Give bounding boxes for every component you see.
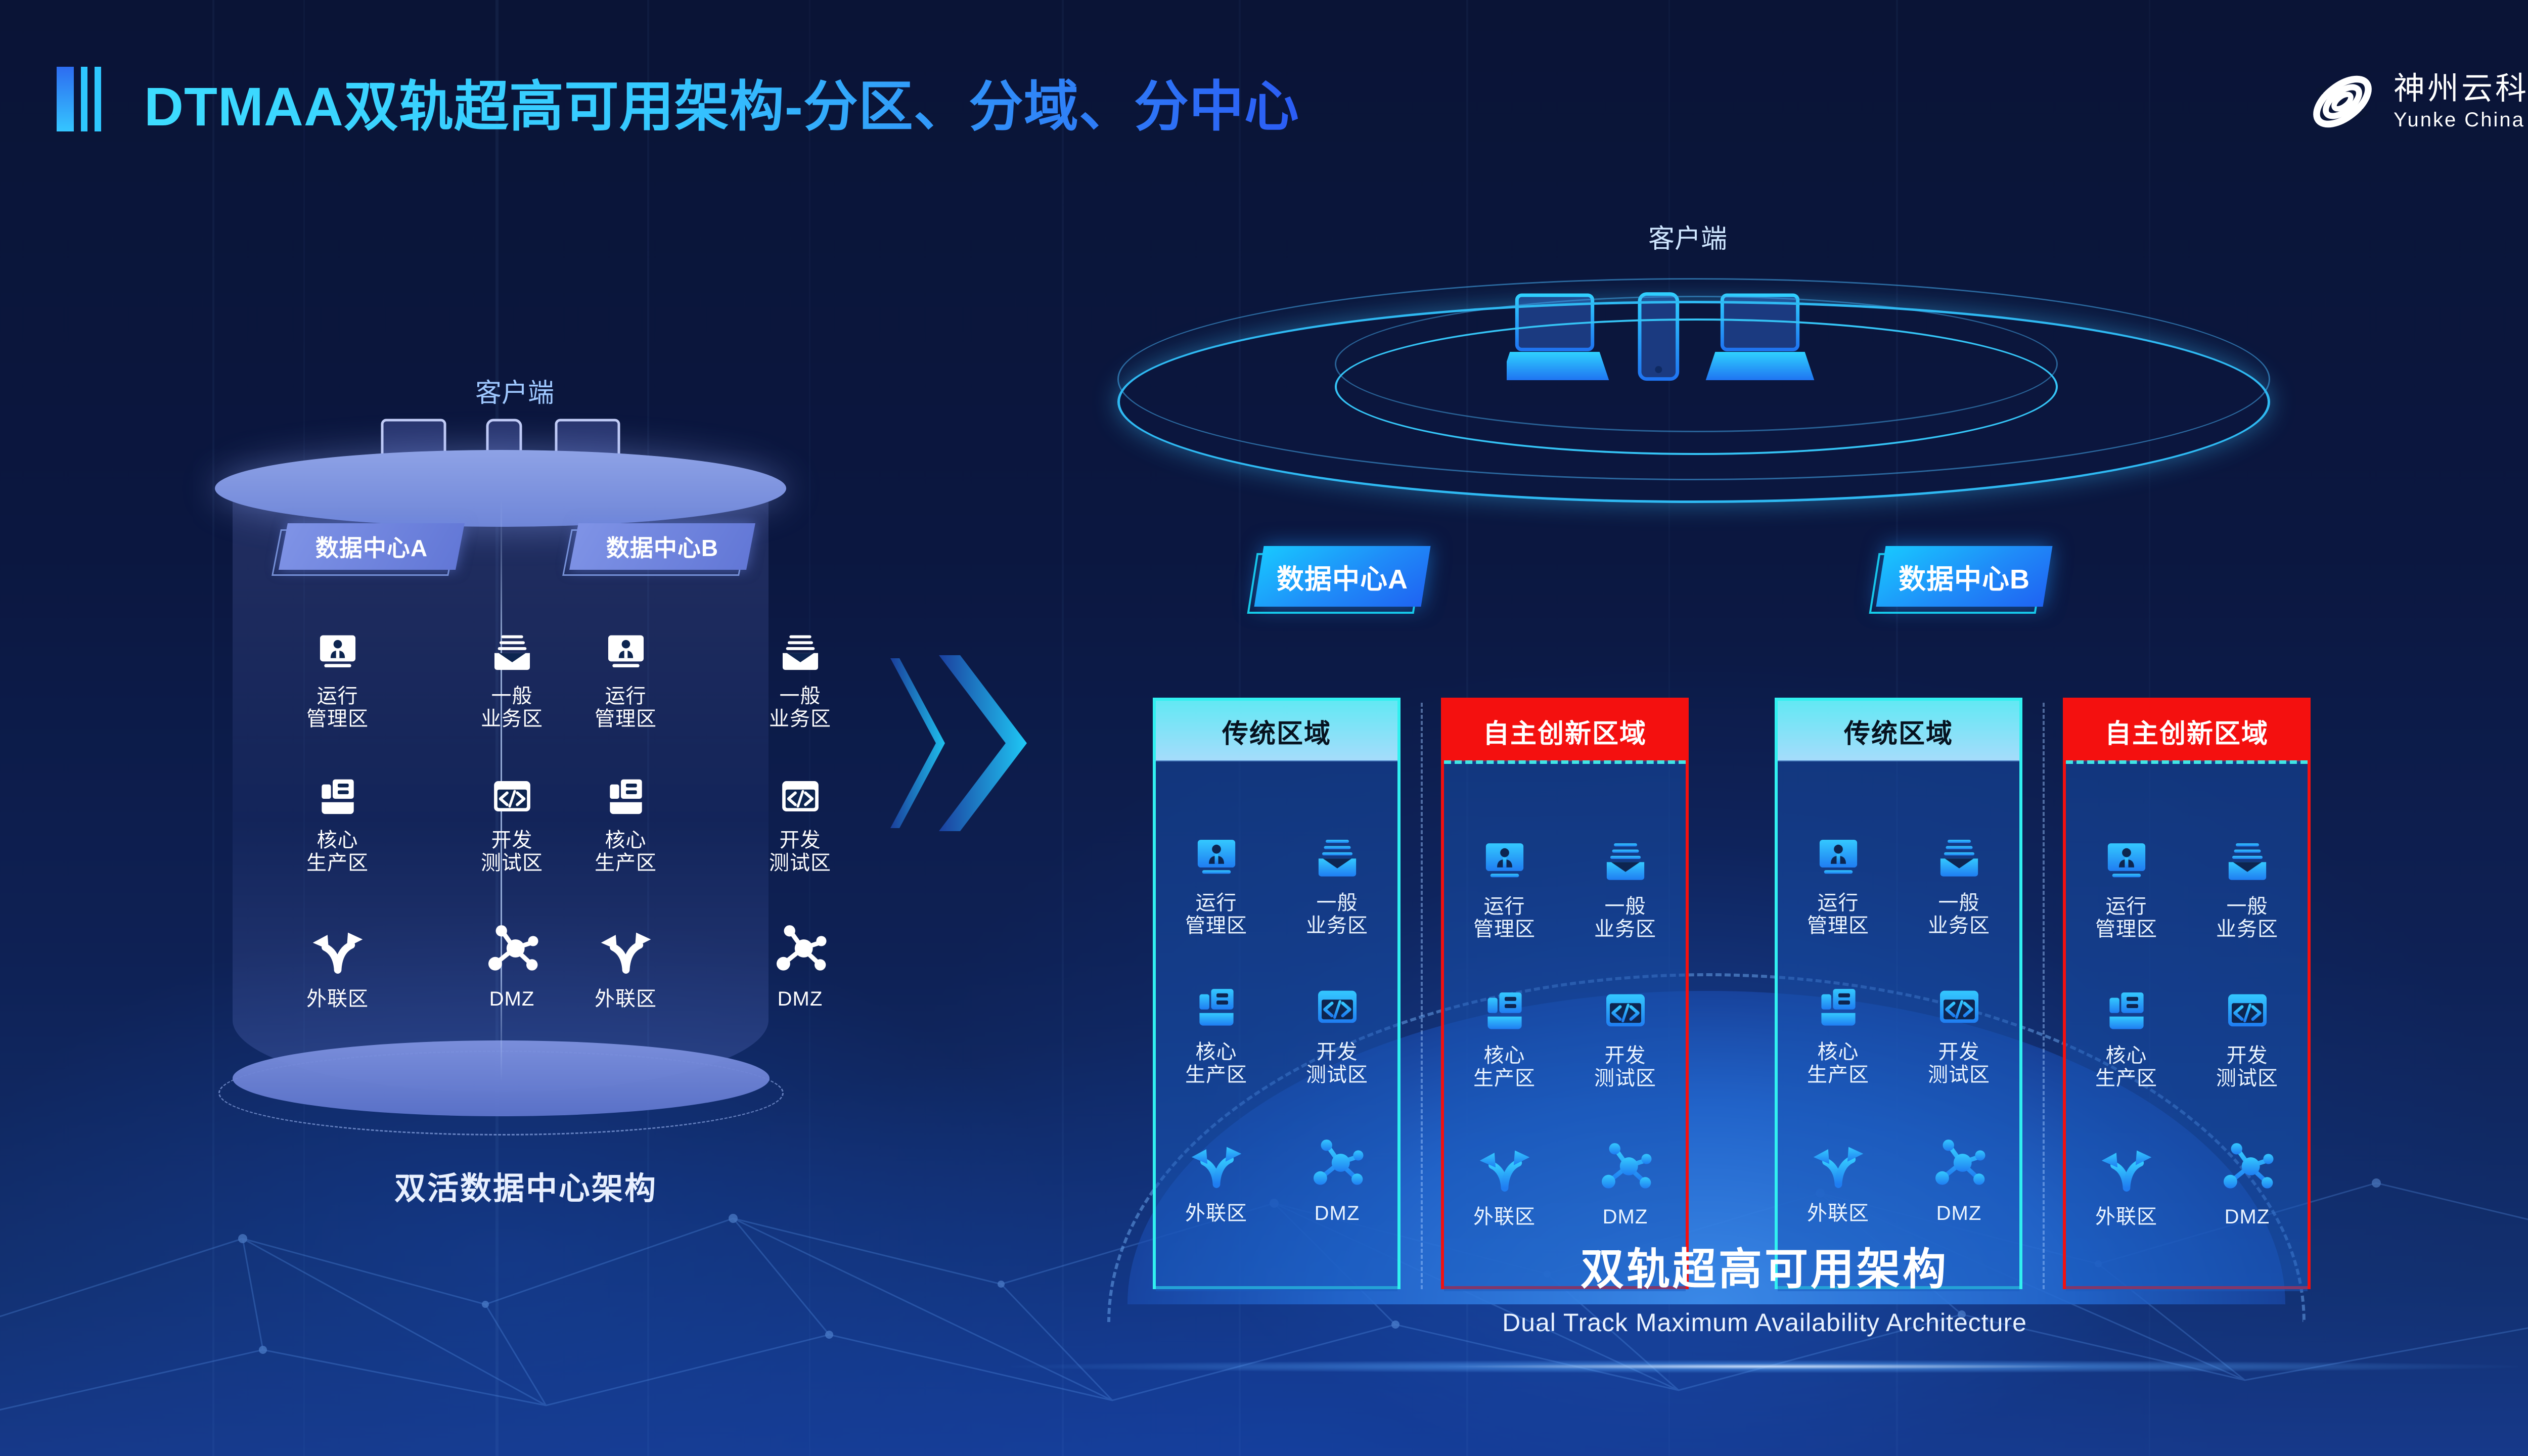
monitor-user-icon <box>2098 840 2155 884</box>
zone-label: 外联区 <box>1807 1202 1869 1225</box>
zone-label: DMZ <box>2225 1206 2270 1228</box>
inbox-tray-icon <box>1931 836 1988 881</box>
server-rack-icon <box>598 776 654 818</box>
zone-cell[interactable]: 外联区 <box>564 920 688 1019</box>
inbox-tray-icon <box>1597 840 1654 884</box>
zone-label: 一般 业务区 <box>2216 895 2278 941</box>
dc-b-traditional-header: 传统区域 <box>1778 701 2019 761</box>
dc-b-innovation-header: 自主创新区域 <box>2066 701 2308 761</box>
zone-cell[interactable]: 核心 生产区 <box>2066 989 2187 1090</box>
dc-a-innovation-column[interactable]: 自主创新区域 运行 管理区一般 业务区核心 生产区开发 测试区外联区DMZ <box>1441 698 1689 1289</box>
interchange-arrows-icon <box>1476 1138 1533 1195</box>
zone-label: 运行 管理区 <box>1807 892 1869 937</box>
right-dc-badge-a[interactable]: 数据中心A <box>1259 546 1426 607</box>
network-nodes-icon <box>2219 1138 2276 1195</box>
zone-label: 开发 测试区 <box>769 829 831 875</box>
zone-label: DMZ <box>1936 1202 1982 1225</box>
zone-label: 开发 测试区 <box>1928 1041 1990 1086</box>
logo-text-en: Yunke China <box>2394 110 2528 130</box>
dc-b-innovation-zone-grid: 运行 管理区一般 业务区核心 生产区开发 测试区外联区DMZ <box>2066 840 2308 1239</box>
interchange-arrows-icon <box>598 920 654 977</box>
dc-b-traditional-zone-grid: 运行 管理区一般 业务区核心 生产区开发 测试区外联区DMZ <box>1778 836 2019 1236</box>
monitor-user-icon <box>598 632 654 674</box>
code-window-icon <box>1931 985 1988 1030</box>
zone-label: 开发 测试区 <box>481 829 543 875</box>
right-architecture-group: 数据中心A 数据中心B 传统区域 运行 管理区一般 业务区核心 生产区开发 测试… <box>1011 192 2518 1304</box>
network-nodes-icon <box>1931 1134 1988 1191</box>
zone-cell[interactable]: 外联区 <box>1778 1134 1899 1236</box>
zone-label: 核心 生产区 <box>595 829 657 875</box>
zone-label: 外联区 <box>1185 1202 1247 1225</box>
zone-cell[interactable]: DMZ <box>2187 1138 2308 1239</box>
network-nodes-icon <box>484 920 540 977</box>
dc-a-traditional-header: 传统区域 <box>1156 701 1397 761</box>
zone-cell[interactable]: 运行 管理区 <box>1444 840 1565 941</box>
interchange-arrows-icon <box>309 920 366 977</box>
monitor-user-icon <box>1810 836 1867 881</box>
zone-cell[interactable]: DMZ <box>450 920 574 1019</box>
interchange-arrows-icon <box>2098 1138 2155 1195</box>
code-window-icon <box>484 776 540 818</box>
right-dc-badge-b[interactable]: 数据中心B <box>1881 546 2048 607</box>
monitor-user-icon <box>309 632 366 674</box>
zone-label: 开发 测试区 <box>2216 1044 2278 1090</box>
logo-text-cn: 神州云科 <box>2394 73 2528 105</box>
zone-label: 核心 生产区 <box>2095 1044 2157 1090</box>
zone-cell[interactable]: DMZ <box>1899 1134 2019 1236</box>
left-dc-badge-b[interactable]: 数据中心B <box>574 523 751 570</box>
zone-label: DMZ <box>1603 1206 1648 1228</box>
zone-label: 运行 管理区 <box>2095 895 2157 941</box>
inbox-tray-icon <box>484 632 540 674</box>
zone-cell[interactable]: 开发 测试区 <box>450 776 574 875</box>
zone-label: 一般 业务区 <box>1594 895 1656 941</box>
zone-cell[interactable]: 一般 业务区 <box>450 632 574 731</box>
zone-cell[interactable]: 运行 管理区 <box>276 632 399 731</box>
zone-cell[interactable]: 外联区 <box>2066 1138 2187 1239</box>
interchange-arrows-icon <box>1188 1134 1245 1191</box>
zone-label: 外联区 <box>2095 1206 2157 1228</box>
zone-cell[interactable]: 核心 生产区 <box>1778 985 1899 1086</box>
monitor-user-icon <box>1188 836 1245 881</box>
interchange-arrows-icon <box>1810 1134 1867 1191</box>
server-rack-icon <box>1810 985 1867 1030</box>
zone-cell[interactable]: 运行 管理区 <box>1778 836 1899 937</box>
zone-label: 外联区 <box>1473 1206 1536 1228</box>
left-dc-badge-b-label: 数据中心B <box>574 523 751 570</box>
swirl-logo-icon <box>2305 64 2380 140</box>
dc-b-column-separator <box>2043 703 2045 1289</box>
zone-cell[interactable]: 开发 测试区 <box>1565 989 1686 1090</box>
page-title: DTMAA双轨超高可用架构-分区、分域、分中心 <box>144 63 1299 142</box>
zone-cell[interactable]: 一般 业务区 <box>1565 840 1686 941</box>
right-outer-ring <box>1117 301 2270 503</box>
code-window-icon <box>772 776 829 818</box>
zone-cell[interactable]: 核心 生产区 <box>564 776 688 875</box>
zone-cell[interactable]: DMZ <box>738 920 862 1019</box>
network-nodes-icon <box>1597 1138 1654 1195</box>
server-rack-icon <box>1188 985 1245 1030</box>
network-nodes-icon <box>772 920 829 977</box>
zone-label: 核心 生产区 <box>1185 1041 1247 1086</box>
zone-label: 运行 管理区 <box>1185 892 1247 937</box>
dc-a-traditional-zone-grid: 运行 管理区一般 业务区核心 生产区开发 测试区外联区DMZ <box>1156 836 1397 1236</box>
zone-label: DMZ <box>778 988 823 1011</box>
left-dc-badge-a-label: 数据中心A <box>283 523 460 570</box>
zone-cell[interactable]: 外联区 <box>1444 1138 1565 1239</box>
zone-cell[interactable]: 运行 管理区 <box>2066 840 2187 941</box>
zone-label: DMZ <box>489 988 535 1011</box>
zone-label: 核心 生产区 <box>1473 1044 1536 1090</box>
zone-cell[interactable]: 一般 业务区 <box>1277 836 1397 937</box>
code-window-icon <box>2219 989 2276 1033</box>
zone-cell[interactable]: DMZ <box>1565 1138 1686 1239</box>
zone-cell[interactable]: 外联区 <box>276 920 399 1019</box>
monitor-user-icon <box>1476 840 1533 884</box>
zone-cell[interactable]: 一般 业务区 <box>738 632 862 731</box>
dc-a-column-separator <box>1421 703 1423 1289</box>
right-dc-badge-b-label: 数据中心B <box>1881 546 2048 607</box>
zone-label: 运行 管理区 <box>306 685 369 731</box>
footer-title-block: 双轨超高可用架构 Dual Track Maximum Availability… <box>1011 1234 2518 1337</box>
zone-cell[interactable]: 一般 业务区 <box>2187 840 2308 941</box>
footer-title-cn: 双轨超高可用架构 <box>1011 1234 2518 1297</box>
zone-cell[interactable]: 开发 测试区 <box>1277 985 1397 1086</box>
inbox-tray-icon <box>2219 840 2276 884</box>
left-dc-a-zone-grid: 运行 管理区一般 业务区核心 生产区开发 测试区外联区DMZ <box>276 632 574 1019</box>
inbox-tray-icon <box>1309 836 1366 881</box>
zone-label: 开发 测试区 <box>1306 1041 1368 1086</box>
zone-cell[interactable]: 开发 测试区 <box>1899 985 2019 1086</box>
zone-label: 核心 生产区 <box>306 829 369 875</box>
code-window-icon <box>1597 989 1654 1033</box>
title-accent-bars <box>57 67 101 131</box>
zone-cell[interactable]: 一般 业务区 <box>1899 836 2019 937</box>
inbox-tray-icon <box>772 632 829 674</box>
zone-cell[interactable]: 外联区 <box>1156 1134 1277 1236</box>
zone-label: DMZ <box>1315 1202 1360 1225</box>
zone-cell[interactable]: 开发 测试区 <box>738 776 862 875</box>
zone-label: 运行 管理区 <box>1473 895 1536 941</box>
left-section-caption: 双活数据中心架构 <box>0 1163 1052 1208</box>
zone-cell[interactable]: 核心 生产区 <box>1444 989 1565 1090</box>
code-window-icon <box>1309 985 1366 1030</box>
right-dc-badge-a-label: 数据中心A <box>1259 546 1426 607</box>
left-client-label: 客户端 <box>475 372 554 409</box>
footer-title-en: Dual Track Maximum Availability Architec… <box>1011 1308 2518 1337</box>
zone-cell[interactable]: 核心 生产区 <box>1156 985 1277 1086</box>
footer-glow-bar <box>1011 1360 2518 1373</box>
server-rack-icon <box>2098 989 2155 1033</box>
zone-cell[interactable]: 核心 生产区 <box>276 776 399 875</box>
zone-label: 开发 测试区 <box>1594 1044 1656 1090</box>
zone-label: 一般 业务区 <box>1928 892 1990 937</box>
zone-cell[interactable]: 运行 管理区 <box>564 632 688 731</box>
zone-label: 外联区 <box>306 988 369 1011</box>
zone-label: 核心 生产区 <box>1807 1041 1869 1086</box>
zone-cell[interactable]: 运行 管理区 <box>1156 836 1277 937</box>
dc-b-traditional-column[interactable]: 传统区域 运行 管理区一般 业务区核心 生产区开发 测试区外联区DMZ <box>1775 698 2022 1289</box>
dc-b-innovation-column[interactable]: 自主创新区域 运行 管理区一般 业务区核心 生产区开发 测试区外联区DMZ <box>2063 698 2311 1289</box>
dc-a-innovation-zone-grid: 运行 管理区一般 业务区核心 生产区开发 测试区外联区DMZ <box>1444 840 1686 1239</box>
zone-label: 外联区 <box>595 988 657 1011</box>
dc-a-innovation-header: 自主创新区域 <box>1444 701 1686 761</box>
zone-label: 一般 业务区 <box>769 685 831 731</box>
brand-logo: 神州云科 Yunke China <box>2305 64 2528 140</box>
zone-label: 一般 业务区 <box>481 685 543 731</box>
slide-canvas: DTMAA双轨超高可用架构-分区、分域、分中心 神州云科 Yunke China… <box>0 0 2528 1456</box>
server-rack-icon <box>309 776 366 818</box>
zone-cell[interactable]: 开发 测试区 <box>2187 989 2308 1090</box>
dc-a-traditional-column[interactable]: 传统区域 运行 管理区一般 业务区核心 生产区开发 测试区外联区DMZ <box>1153 698 1401 1289</box>
left-dc-badge-a[interactable]: 数据中心A <box>283 523 460 570</box>
server-rack-icon <box>1476 989 1533 1033</box>
zone-label: 运行 管理区 <box>595 685 657 731</box>
zone-cell[interactable]: DMZ <box>1277 1134 1397 1236</box>
network-nodes-icon <box>1309 1134 1366 1191</box>
left-dc-b-zone-grid: 运行 管理区一般 业务区核心 生产区开发 测试区外联区DMZ <box>564 632 862 1019</box>
zone-label: 一般 业务区 <box>1306 892 1368 937</box>
